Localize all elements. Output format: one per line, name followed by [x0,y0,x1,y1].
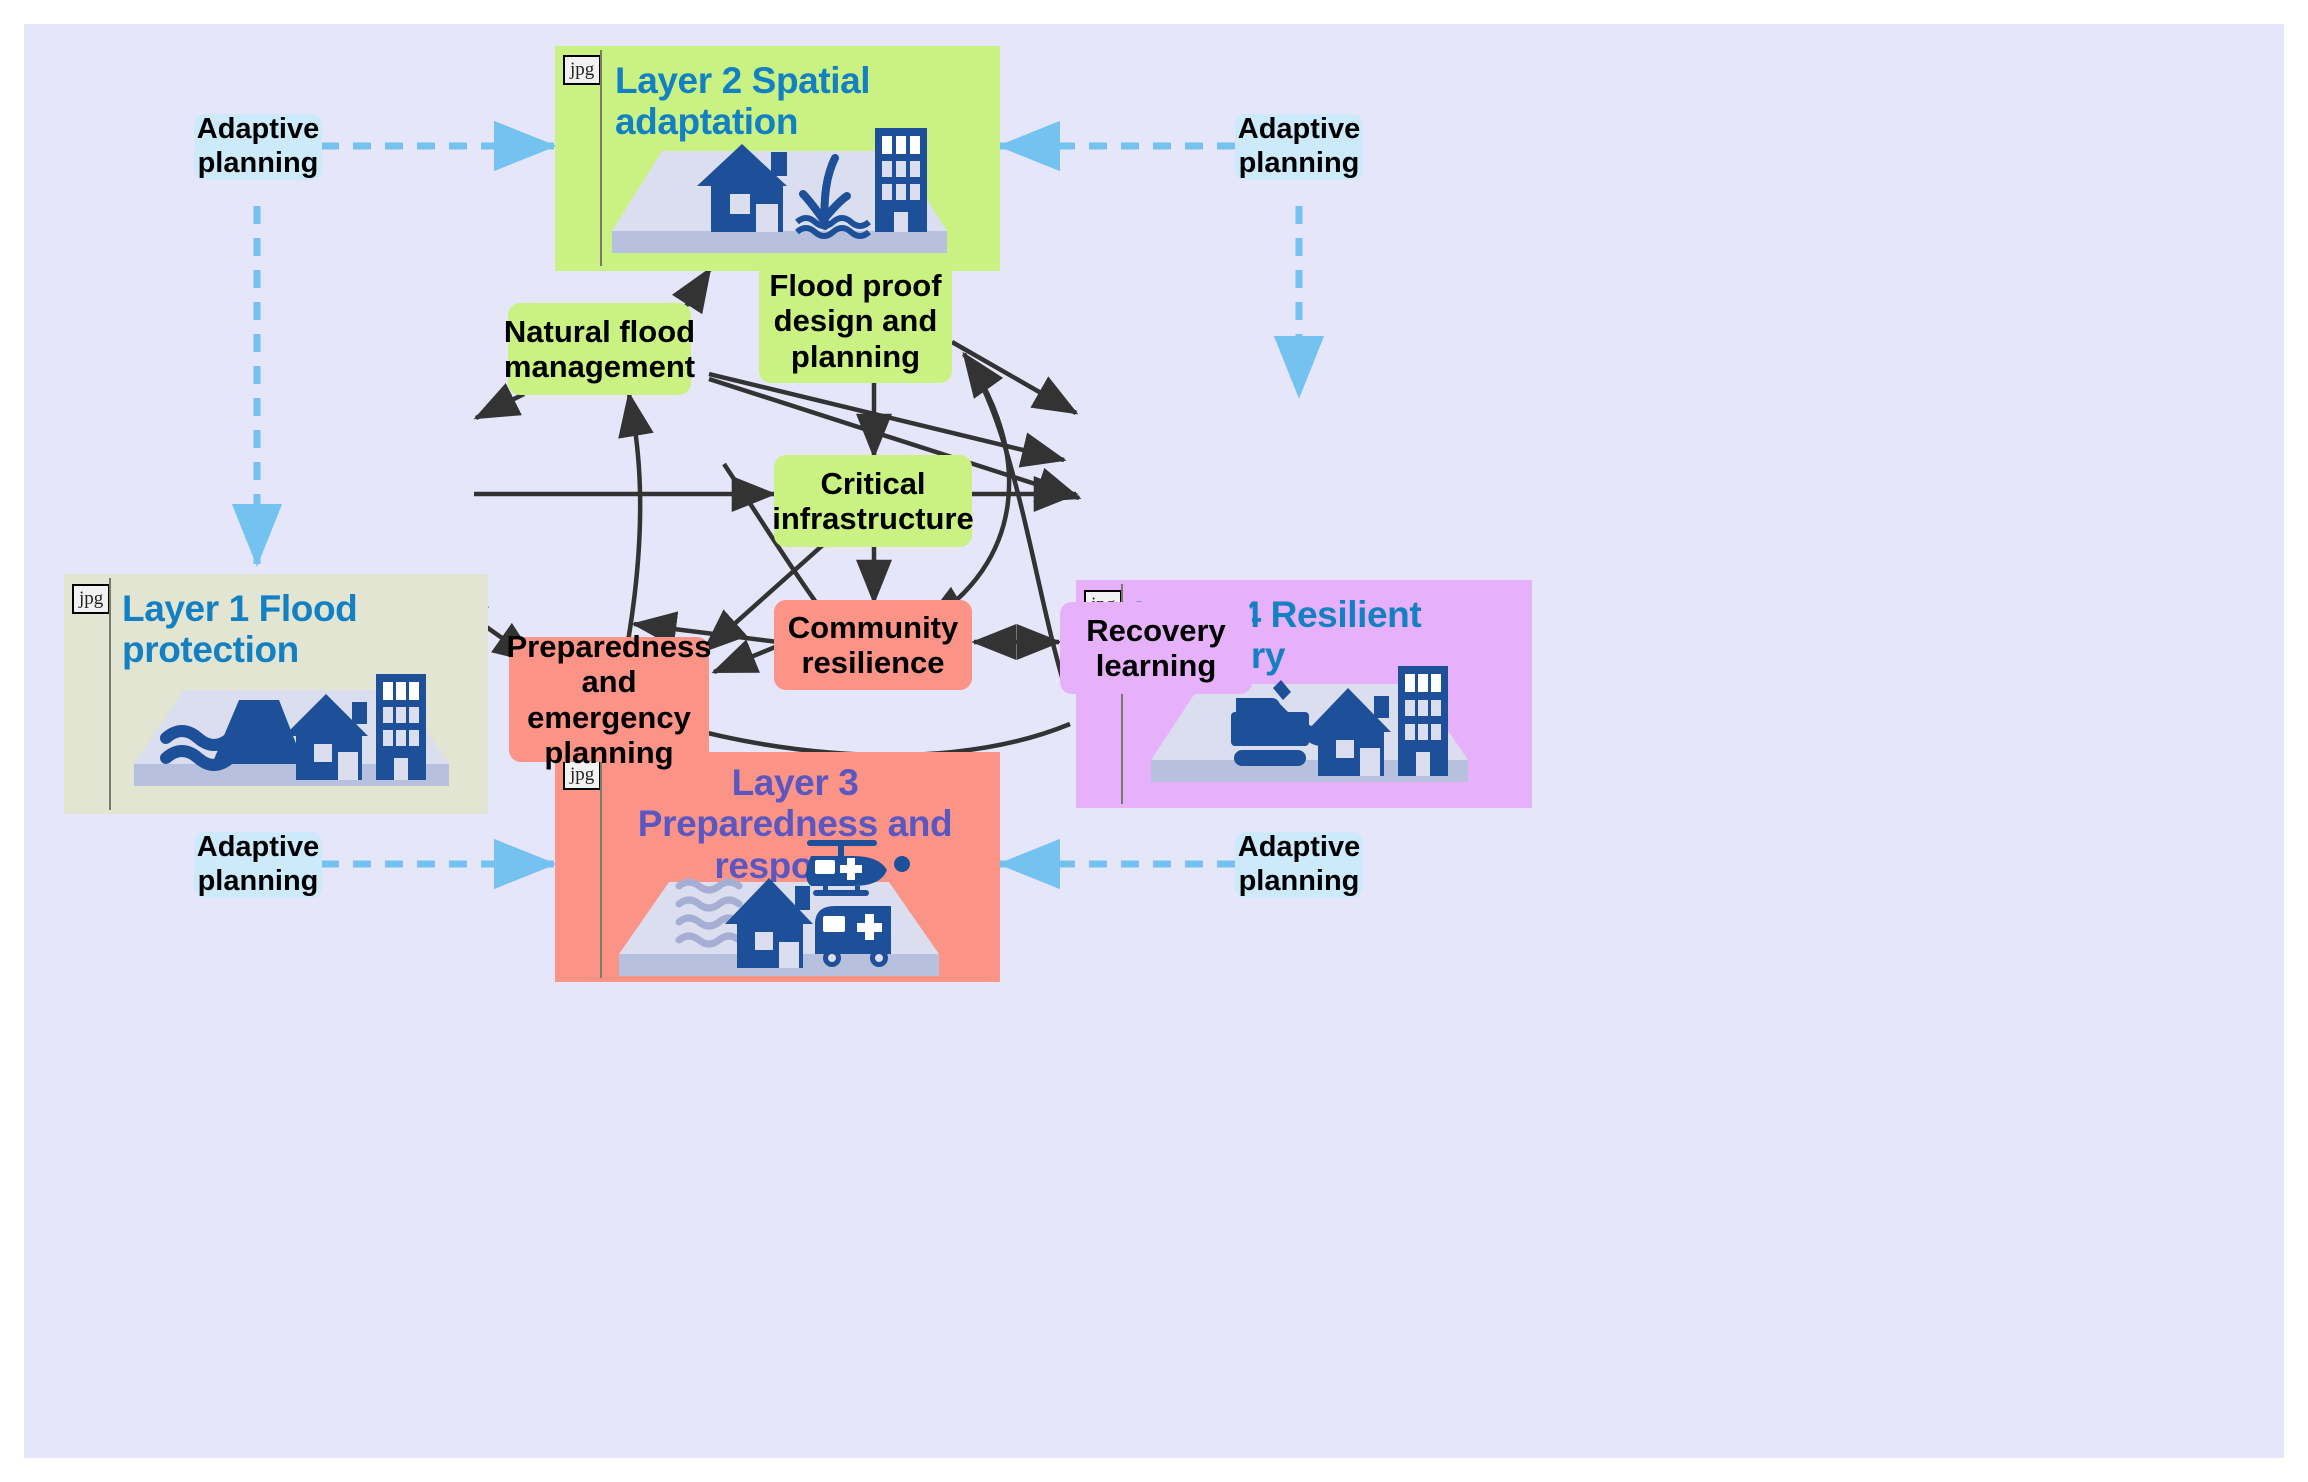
layer1-panel[interactable]: jpg Layer 1 Flood protection [64,574,488,814]
adaptive-planning-label: Adaptive planning [194,113,322,180]
node-flood-proof-design-and-planning[interactable]: Flood proof design and planning [759,259,952,383]
node-label: Preparedness and emergency planning [506,629,711,770]
node-recovery-learning[interactable]: Recovery learning [1060,602,1252,694]
node-label: Community resilience [782,610,964,681]
arrow-recovery-to-fpd [964,354,1064,684]
arrow-nfm-to-layer1 [476,394,524,418]
jpg-badge: jpg [72,584,110,614]
jpg-badge: jpg [563,55,601,85]
layer2-panel[interactable]: jpg Layer 2 Spatial adaptation [555,46,1000,271]
node-preparedness-and-emergency-planning[interactable]: Preparedness and emergency planning [509,637,709,762]
node-label: Natural flood management [504,314,695,385]
node-label: Recovery learning [1068,613,1244,684]
node-community-resilience[interactable]: Community resilience [774,600,972,690]
adaptive-planning-bottom-left[interactable]: Adaptive planning [194,832,322,898]
layer3-panel[interactable]: jpg Layer 3 Preparedness and response [555,752,1000,982]
arrow-nfm-to-layer4-b [709,374,1064,460]
adaptive-planning-label: Adaptive planning [1235,113,1363,180]
node-critical-infrastructure[interactable]: Critical infrastructure [774,455,972,547]
layer1-illustration [104,652,474,802]
adaptive-planning-label: Adaptive planning [1235,831,1363,898]
layer2-illustration [587,116,972,261]
office-building-icon [875,128,927,232]
arrow-prep-to-nfm [624,394,640,664]
layer3-illustration [589,838,974,978]
node-label: Critical infrastructure [772,466,974,537]
node-label: Flood proof design and planning [767,268,944,374]
adaptive-planning-label: Adaptive planning [194,831,322,898]
office-building-icon [1398,666,1448,776]
adaptive-planning-top-left[interactable]: Adaptive planning [194,114,322,180]
adaptive-planning-top-right[interactable]: Adaptive planning [1235,114,1363,180]
diagram-canvas: jpg Layer 2 Spatial adaptation [24,24,2284,1458]
arrow-fpd-to-layer4 [952,342,1076,413]
node-natural-flood-management[interactable]: Natural flood management [508,303,691,395]
adaptive-planning-bottom-right[interactable]: Adaptive planning [1235,832,1363,898]
office-building-icon [376,674,426,780]
